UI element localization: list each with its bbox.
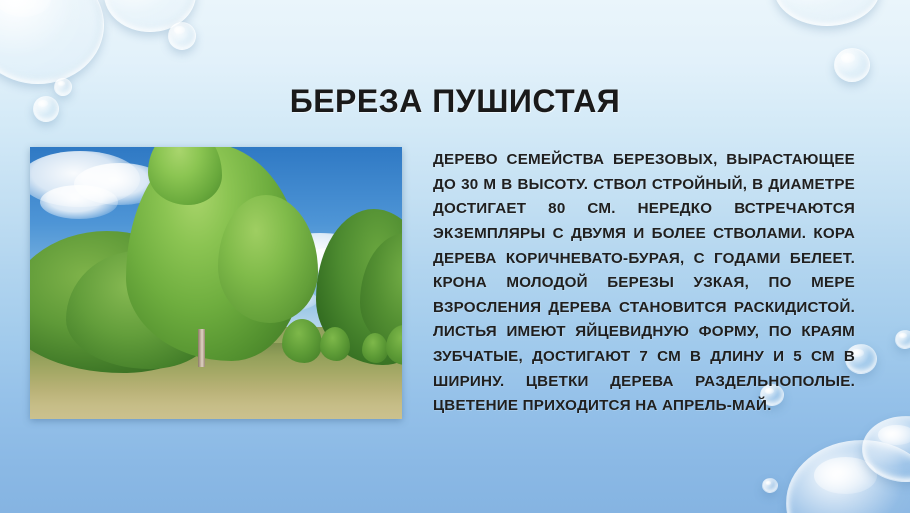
small-tree xyxy=(362,333,388,363)
water-droplet-icon xyxy=(774,0,880,26)
water-droplet-icon xyxy=(862,416,910,482)
birch-crown xyxy=(218,195,318,323)
water-droplet-icon xyxy=(895,330,910,349)
slide-body-text: ДЕРЕВО СЕМЕЙСТВА БЕРЕЗОВЫХ, ВЫРАСТАЮЩЕЕ … xyxy=(433,148,855,419)
tree-photo xyxy=(30,147,402,419)
small-tree xyxy=(282,319,322,363)
water-droplet-icon xyxy=(762,478,778,493)
birch-trunk xyxy=(198,329,205,367)
water-droplet-icon xyxy=(834,48,870,82)
cloud-shape xyxy=(40,185,118,219)
presentation-slide: БЕРЕЗА ПУШИСТАЯ xyxy=(0,0,910,513)
water-droplet-icon xyxy=(168,22,196,50)
small-tree xyxy=(320,327,350,361)
slide-title: БЕРЕЗА ПУШИСТАЯ xyxy=(0,83,910,120)
water-droplet-icon xyxy=(786,440,910,513)
water-droplet-icon xyxy=(0,0,104,84)
water-droplet-icon xyxy=(104,0,196,32)
tree-photo-image xyxy=(30,147,402,419)
